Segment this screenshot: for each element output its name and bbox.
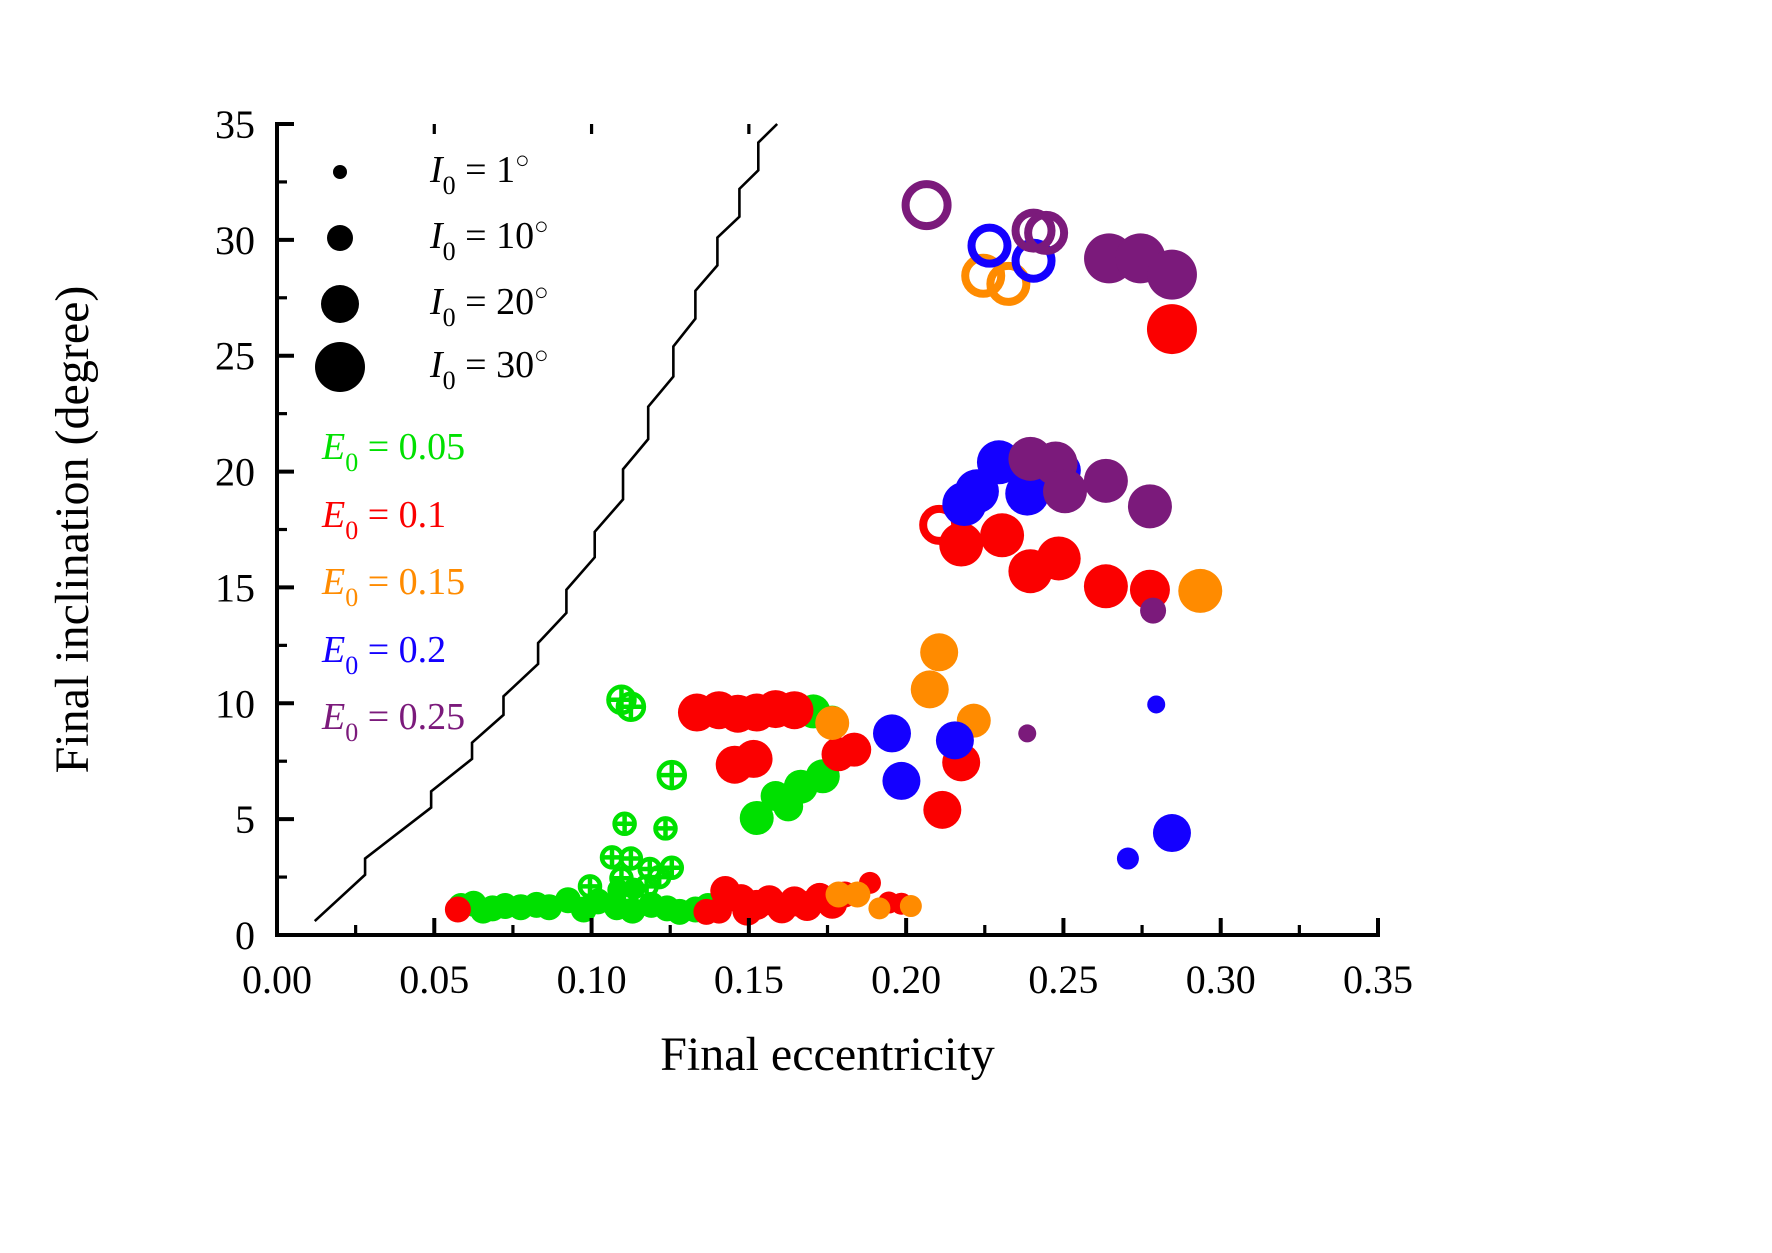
x-tick-label: 0.00 <box>242 957 312 1002</box>
y-tick-label: 0 <box>235 913 255 958</box>
data-point-filled[interactable] <box>1140 598 1166 624</box>
color-legend-label: E0 = 0.2 <box>321 629 446 680</box>
data-point-filled[interactable] <box>980 513 1024 557</box>
size-legend-marker <box>333 165 347 179</box>
data-point-filled[interactable] <box>1043 469 1087 513</box>
data-point-crossed[interactable] <box>618 694 644 720</box>
size-legend-label: I0 = 30○ <box>429 343 549 395</box>
data-point-filled[interactable] <box>706 898 732 924</box>
data-point-filled[interactable] <box>1153 814 1191 852</box>
x-axis-title: Final eccentricity <box>660 1028 995 1081</box>
color-legend: E0 = 0.05E0 = 0.1E0 = 0.15E0 = 0.2E0 = 0… <box>321 426 465 747</box>
data-point-filled[interactable] <box>936 721 974 759</box>
color-legend-label: E0 = 0.1 <box>321 494 446 545</box>
data-point-filled[interactable] <box>923 791 961 829</box>
size-legend: I0 = 1○I0 = 10○I0 = 20○I0 = 30○ <box>315 148 549 395</box>
x-tick-label: 0.25 <box>1028 957 1098 1002</box>
y-tick-label: 10 <box>215 681 255 726</box>
x-tick-label: 0.30 <box>1186 957 1256 1002</box>
data-point-filled[interactable] <box>900 895 922 917</box>
data-point-crossed[interactable] <box>580 876 600 896</box>
data-point-crossed[interactable] <box>615 814 635 834</box>
data-point-filled[interactable] <box>1128 484 1172 528</box>
y-tick-label: 5 <box>235 797 255 842</box>
y-axis-tick-labels: 05101520253035 <box>215 102 255 958</box>
y-tick-label: 15 <box>215 565 255 610</box>
data-point-filled[interactable] <box>1084 564 1128 608</box>
data-point-filled[interactable] <box>920 633 958 671</box>
data-point-crossed[interactable] <box>621 849 641 869</box>
data-point-filled[interactable] <box>837 733 871 767</box>
data-point-filled[interactable] <box>868 897 890 919</box>
x-tick-label: 0.35 <box>1343 957 1413 1002</box>
data-point-filled[interactable] <box>939 523 983 567</box>
data-point-filled[interactable] <box>1037 536 1081 580</box>
series-e-0-0-1 <box>445 304 1197 926</box>
y-tick-label: 20 <box>215 450 255 495</box>
data-point-crossed[interactable] <box>611 868 631 888</box>
data-point-crossed[interactable] <box>637 876 657 896</box>
size-legend-marker <box>327 225 353 251</box>
data-point-filled[interactable] <box>882 762 920 800</box>
x-tick-label: 0.05 <box>399 957 469 1002</box>
data-point-filled[interactable] <box>445 897 471 923</box>
scatter-plot-svg: 0.000.050.100.150.200.250.300.35 0510152… <box>0 0 1772 1253</box>
size-legend-label: I0 = 10○ <box>429 214 549 266</box>
color-legend-label: E0 = 0.15 <box>321 561 465 612</box>
size-legend-label: I0 = 1○ <box>429 148 530 200</box>
data-point-filled[interactable] <box>955 469 999 513</box>
x-tick-label: 0.20 <box>871 957 941 1002</box>
data-point-crossed[interactable] <box>659 762 685 788</box>
size-legend-entry: I0 = 20○ <box>321 280 549 332</box>
y-axis-title: Final inclination (degree) <box>46 286 99 774</box>
color-legend-label: E0 = 0.25 <box>321 696 465 747</box>
data-point-filled[interactable] <box>1147 250 1197 300</box>
data-point-filled[interactable] <box>1084 459 1128 503</box>
data-point-filled[interactable] <box>844 881 870 907</box>
x-tick-label: 0.15 <box>714 957 784 1002</box>
y-tick-label: 25 <box>215 334 255 379</box>
y-axis-ticks <box>277 124 294 935</box>
size-legend-marker <box>321 285 359 323</box>
data-point-filled[interactable] <box>815 706 849 740</box>
data-point-filled[interactable] <box>735 740 773 778</box>
size-legend-label: I0 = 20○ <box>429 280 549 332</box>
data-point-filled[interactable] <box>1178 569 1222 613</box>
data-point-filled[interactable] <box>1147 304 1197 354</box>
y-tick-label: 30 <box>215 218 255 263</box>
x-axis-tick-labels: 0.000.050.100.150.200.250.300.35 <box>242 957 1413 1002</box>
data-point-filled[interactable] <box>1018 724 1036 742</box>
color-legend-label: E0 = 0.05 <box>321 426 465 477</box>
size-legend-entry: I0 = 1○ <box>333 148 530 200</box>
x-tick-label: 0.10 <box>557 957 627 1002</box>
data-point-filled[interactable] <box>911 670 949 708</box>
y-tick-label: 35 <box>215 102 255 147</box>
data-point-filled[interactable] <box>873 714 911 752</box>
data-point-filled[interactable] <box>775 691 813 729</box>
chart-figure: 0.000.050.100.150.200.250.300.35 0510152… <box>0 0 1772 1253</box>
data-point-open[interactable] <box>906 184 948 226</box>
size-legend-marker <box>315 342 365 392</box>
data-point-crossed[interactable] <box>655 818 675 838</box>
size-legend-entry: I0 = 30○ <box>315 342 549 395</box>
series-e-0-0-2 <box>873 228 1191 870</box>
size-legend-entry: I0 = 10○ <box>327 214 549 266</box>
data-point-filled[interactable] <box>1147 695 1165 713</box>
data-point-filled[interactable] <box>1117 848 1139 870</box>
data-series-group <box>445 184 1222 926</box>
